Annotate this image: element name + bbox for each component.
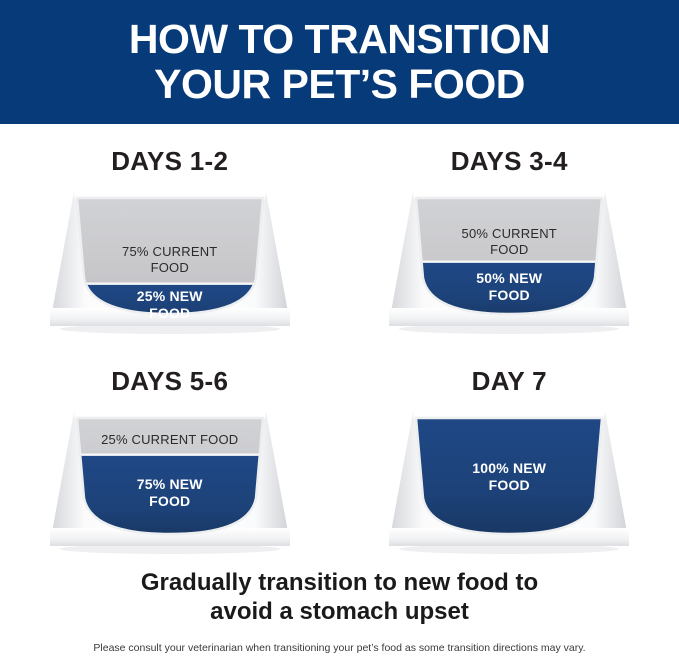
bowl-graphic	[44, 406, 296, 556]
bowl-graphic	[44, 186, 296, 336]
step-card-day-7: DAY 7	[340, 348, 679, 568]
transition-steps-grid: DAYS 1-2	[0, 128, 679, 568]
bowl-graphic	[383, 186, 635, 336]
step-card-days-5-6: DAYS 5-6	[0, 348, 340, 568]
step-title: DAYS 5-6	[111, 366, 228, 396]
step-title: DAYS 3-4	[451, 146, 568, 176]
footer-headline-line-1: Gradually transition to new food to	[141, 568, 538, 597]
footer-section: Gradually transition to new food to avoi…	[0, 568, 679, 655]
bowl-illustration-days-1-2: 75% CURRENT FOOD 25% NEW FOOD	[44, 186, 296, 336]
header-banner: HOW TO TRANSITION YOUR PET’S FOOD	[0, 0, 679, 124]
step-card-days-1-2: DAYS 1-2	[0, 128, 340, 348]
step-title: DAYS 1-2	[111, 146, 228, 176]
bowl-illustration-day-7: 100% NEW FOOD	[383, 406, 635, 556]
footer-headline-line-2: avoid a stomach upset	[210, 597, 469, 626]
bowl-illustration-days-3-4: 50% CURRENT FOOD 50% NEW FOOD	[383, 186, 635, 336]
header-title-line-1: HOW TO TRANSITION	[129, 17, 550, 62]
step-card-days-3-4: DAYS 3-4	[340, 128, 679, 348]
step-title: DAY 7	[472, 366, 547, 396]
bowl-illustration-days-5-6: 25% CURRENT FOOD 75% NEW FOOD	[44, 406, 296, 556]
bowl-graphic	[383, 406, 635, 556]
disclaimer-text: Please consult your veterinarian when tr…	[93, 642, 585, 655]
header-title-line-2: YOUR PET’S FOOD	[154, 62, 525, 107]
